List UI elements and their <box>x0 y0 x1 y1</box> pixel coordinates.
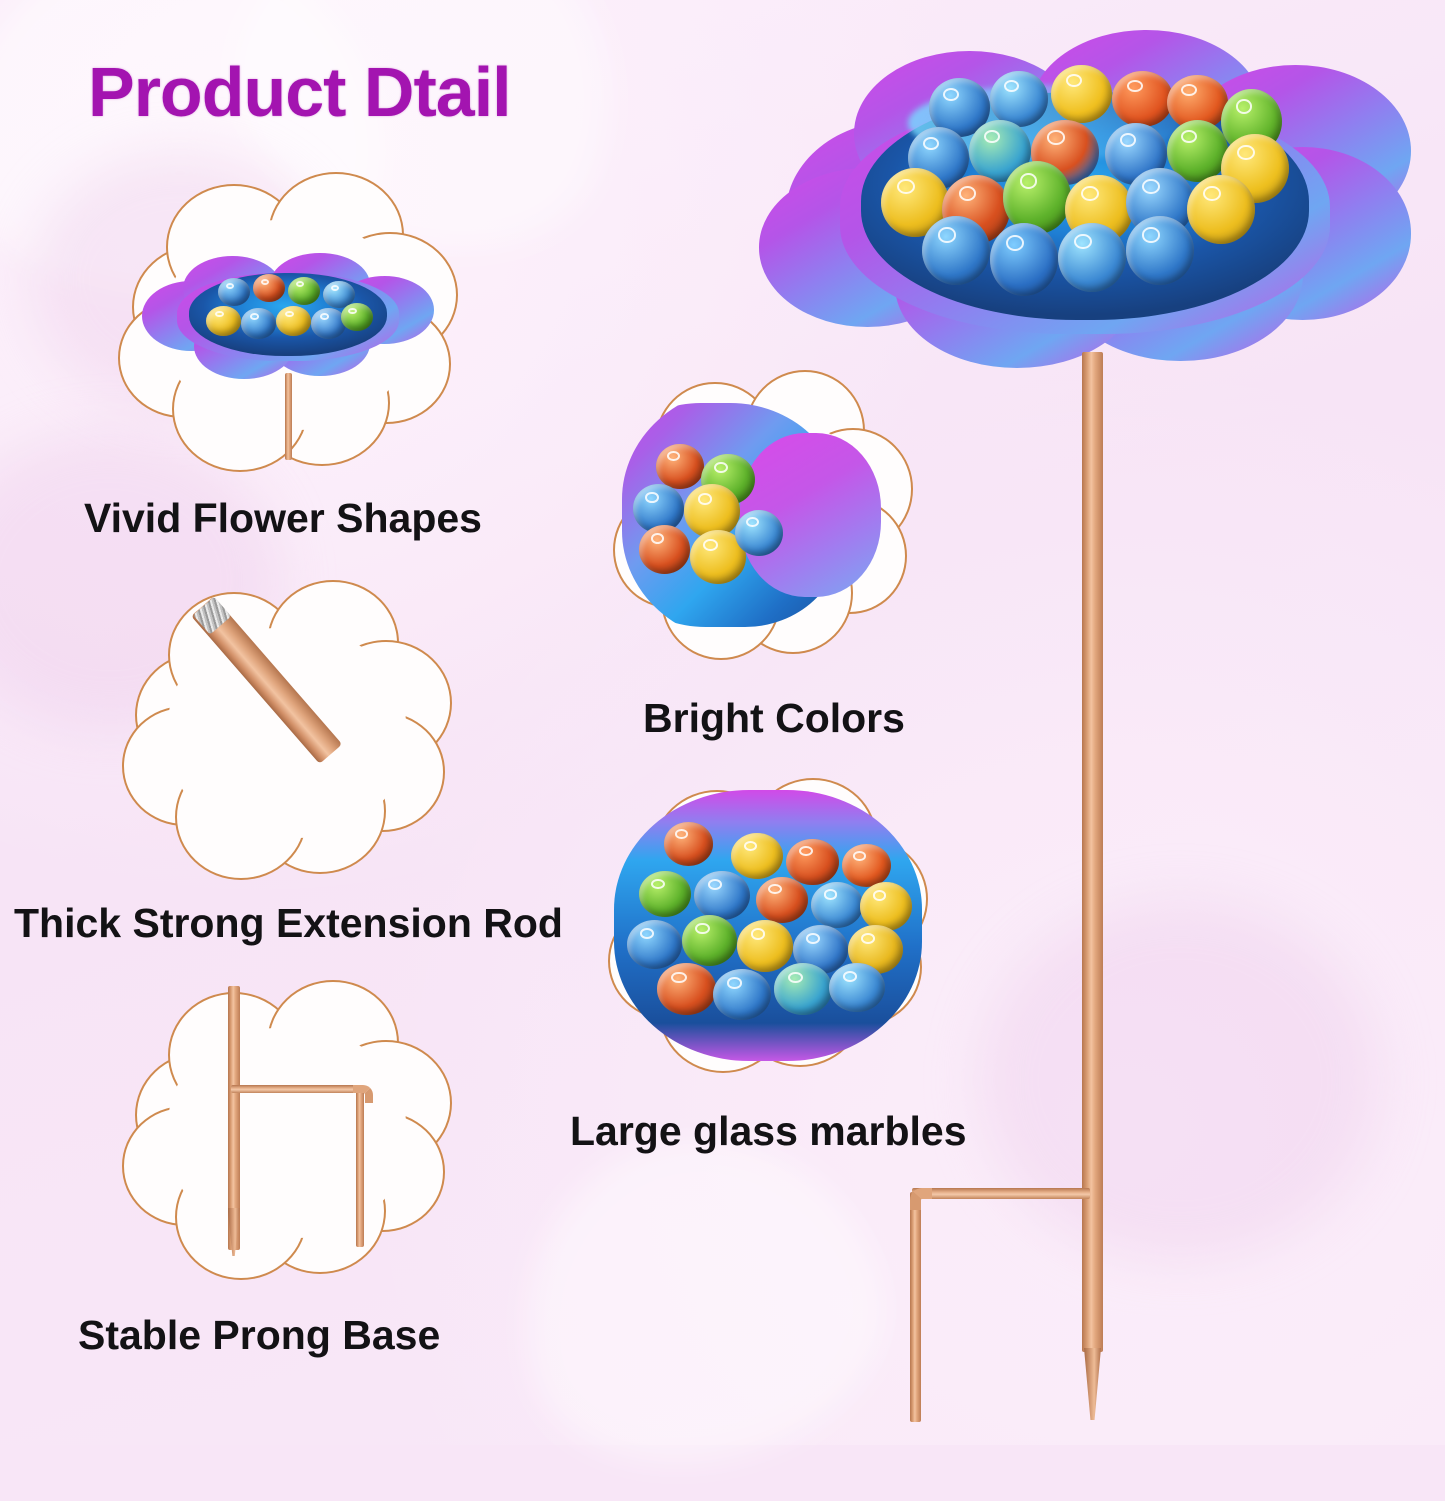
closeup-glass-marble <box>713 969 771 1021</box>
caption-thick-strong-extension-rod: Thick Strong Extension Rod <box>14 900 563 947</box>
side-prong-leg <box>910 1192 921 1422</box>
background-watermark-blob <box>980 900 1380 1260</box>
glass-marble <box>990 71 1048 126</box>
closeup-glass-marble <box>694 871 749 920</box>
caption-large-glass-marbles: Large glass marbles <box>570 1108 967 1155</box>
closeup-glass-marble <box>860 882 912 931</box>
mini-flower-bowl-icon <box>142 253 434 379</box>
feature-card-vivid-flower-shapes[interactable] <box>118 172 458 472</box>
glass-marble <box>1058 223 1126 292</box>
closeup-glass-marble <box>656 444 704 490</box>
iridescent-flower-dish <box>745 30 1425 375</box>
glass-marble <box>1126 216 1194 285</box>
glass-marble <box>1051 65 1112 124</box>
caption-stable-prong-base: Stable Prong Base <box>78 1312 440 1359</box>
closeup-glass-marble <box>664 822 713 865</box>
glass-marble <box>1187 175 1255 244</box>
feature-card-large-glass-marbles[interactable] <box>608 778 928 1073</box>
mini-glass-marble <box>218 278 250 306</box>
glass-marble <box>1003 161 1071 233</box>
colorful-dish-closeup-icon <box>622 387 904 642</box>
closeup-glass-marble <box>756 877 808 923</box>
closeup-glass-marble <box>682 915 737 967</box>
page-title: Product Dtail <box>88 52 511 132</box>
mini-glass-marble <box>288 277 320 305</box>
closeup-glass-marble <box>737 920 792 972</box>
closeup-glass-marble <box>829 963 884 1012</box>
closeup-glass-marble <box>786 839 838 885</box>
mini-stake-pole <box>285 373 292 460</box>
glass-marbles-closeup-icon <box>614 790 921 1061</box>
prong-crossbar <box>231 1085 363 1093</box>
closeup-glass-marble <box>735 510 783 556</box>
prong-stake-icon <box>122 980 452 1280</box>
mini-glass-marble <box>241 308 276 338</box>
feature-card-bright-colors[interactable] <box>613 370 913 660</box>
closeup-glass-marble <box>811 882 863 928</box>
glass-marble <box>990 223 1058 295</box>
glass-marble <box>922 216 990 285</box>
closeup-glass-marble <box>639 525 690 573</box>
caption-bright-colors: Bright Colors <box>643 695 905 742</box>
copper-stake-pole <box>1082 352 1103 1352</box>
feature-card-stable-prong-base[interactable] <box>122 980 452 1280</box>
glass-marble <box>1112 71 1173 126</box>
prong-corner <box>353 1085 373 1103</box>
prong-side-leg <box>356 1091 364 1247</box>
closeup-glass-marble <box>657 963 715 1015</box>
side-prong-corner <box>910 1188 932 1210</box>
caption-vivid-flower-shapes: Vivid Flower Shapes <box>84 495 482 542</box>
closeup-glass-marble <box>842 844 891 887</box>
threaded-copper-rod-icon <box>122 580 452 880</box>
mini-glass-marble <box>253 274 285 302</box>
feature-card-thick-strong-extension-rod[interactable] <box>122 580 452 880</box>
mini-glass-marble <box>341 303 373 331</box>
side-prong-crossbar <box>912 1188 1090 1199</box>
closeup-glass-marble <box>627 920 682 969</box>
